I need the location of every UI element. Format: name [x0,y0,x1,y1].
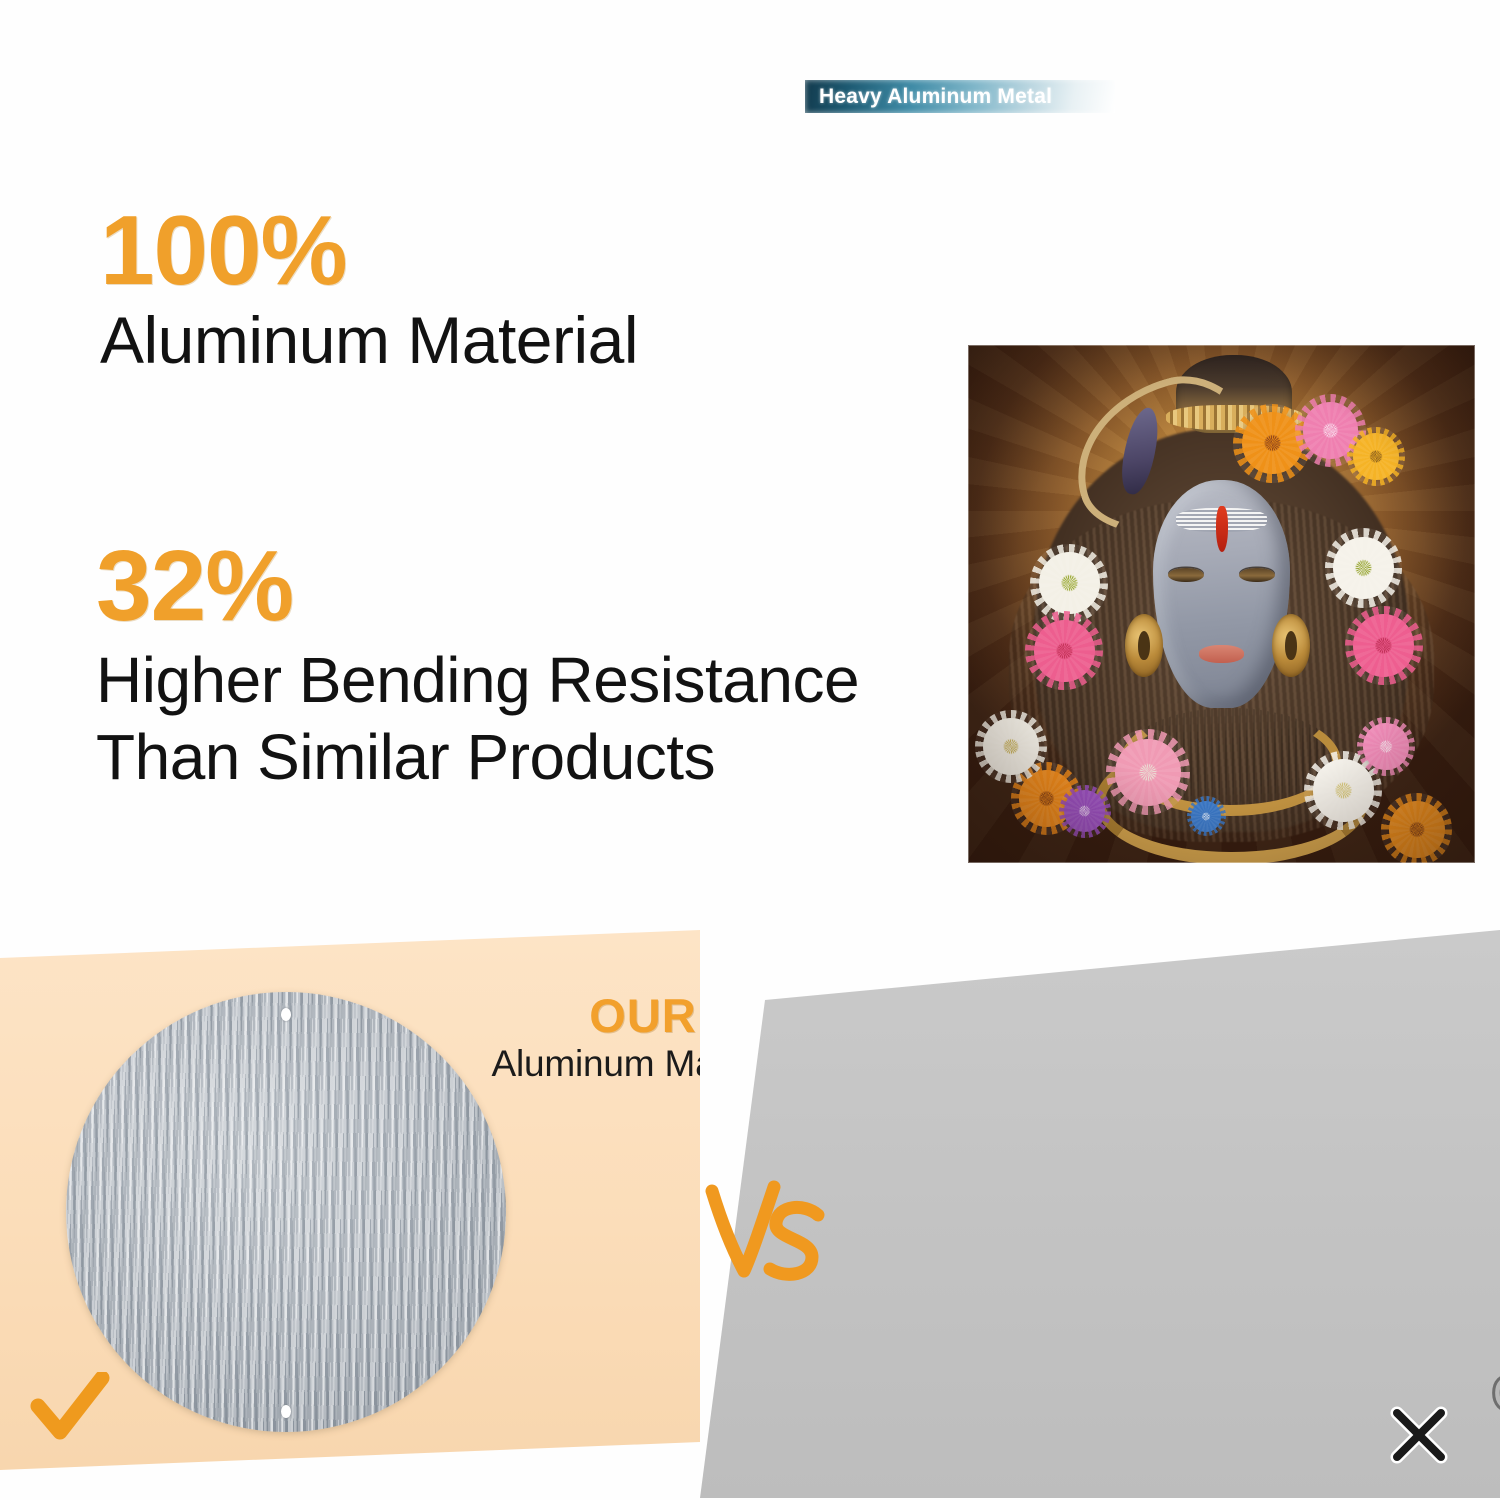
check-icon [30,1372,110,1452]
stat-block-bending-resistance: 32% Higher Bending Resistance Than Simil… [96,540,859,792]
photo-border [968,345,1475,863]
infographic-canvas: Heavy Aluminum Metal 100% Aluminum Mater… [0,0,1500,1500]
stat-description-bending-resistance: Higher Bending Resistance Than Similar P… [96,646,859,792]
heavy-aluminum-metal-banner: Heavy Aluminum Metal [805,80,1115,113]
vs-icon [700,1175,840,1305]
shiva-deity-image [968,345,1475,863]
cross-icon [1388,1404,1450,1466]
stat-description-line2: Than Similar Products [96,723,859,792]
our-material-panel: OUR Aluminum Material [0,930,760,1470]
mounting-hole-bottom [281,1405,291,1418]
stat-block-aluminum-material: 100% Aluminum Material [100,205,638,376]
banner-label: Heavy Aluminum Metal [805,85,1052,109]
stat-description-aluminum-material: Aluminum Material [100,305,638,376]
aluminum-disc [66,992,506,1432]
stat-description-line1: Higher Bending Resistance [96,644,859,716]
stat-percent-100: 100% [100,205,638,295]
mounting-hole-top [281,1008,291,1021]
stat-percent-32: 32% [96,540,859,632]
